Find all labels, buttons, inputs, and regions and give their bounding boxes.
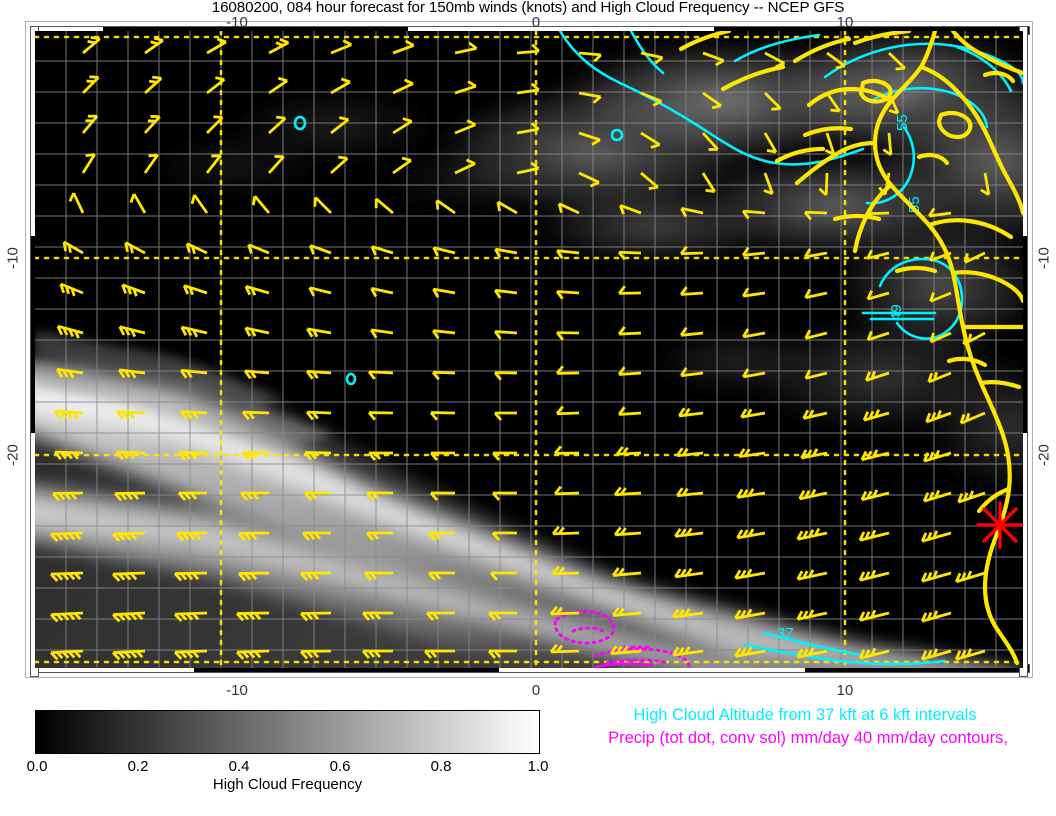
bottom-axis-tick-1: 0 — [532, 682, 540, 699]
forecast-chart-figure: 16080200, 084 hour forecast for 150mb wi… — [0, 0, 1056, 816]
colorbar-tick-0: 0.0 — [27, 758, 48, 775]
colorbar-tick-4: 0.8 — [431, 758, 452, 775]
right-axis-tick-0: -10 — [1036, 247, 1053, 269]
colorbar-tick-2: 0.4 — [229, 758, 250, 775]
colorbar-tick-1: 0.2 — [128, 758, 149, 775]
bottom-axis-tick-0: -10 — [226, 682, 248, 699]
bottom-axis-tick-2: 10 — [837, 682, 854, 699]
legend-precip: Precip (tot dot, conv sol) mm/day 40 mm/… — [560, 729, 1056, 748]
right-axis-tick-1: -20 — [1036, 444, 1053, 466]
top-axis-tick-2: 10 — [837, 14, 854, 31]
high-cloud-frequency-colorbar — [35, 710, 540, 754]
legend-cloud-altitude: High Cloud Altitude from 37 kft at 6 kft… — [560, 706, 1050, 725]
colorbar-title: High Cloud Frequency — [35, 776, 540, 793]
left-axis-tick-0: -10 — [5, 247, 22, 269]
colorbar-tick-5: 1.0 — [528, 758, 549, 775]
contour-label-55: 55 — [894, 114, 911, 131]
left-axis-tick-1: -20 — [5, 444, 22, 466]
map-plot-area[interactable]: 55 55 49 37 — [35, 31, 1023, 668]
contour-label-37: 37 — [777, 625, 794, 642]
chart-title: 16080200, 084 hour forecast for 150mb wi… — [0, 0, 1056, 16]
top-axis-tick-1: 0 — [532, 14, 540, 31]
contour-label-49: 49 — [888, 304, 905, 321]
top-axis-tick-0: -10 — [226, 14, 248, 31]
colorbar-wrapper: 0.0 0.2 0.4 0.6 0.8 1.0 — [35, 710, 540, 754]
colorbar-tick-3: 0.6 — [330, 758, 351, 775]
station-marker — [978, 503, 1022, 547]
